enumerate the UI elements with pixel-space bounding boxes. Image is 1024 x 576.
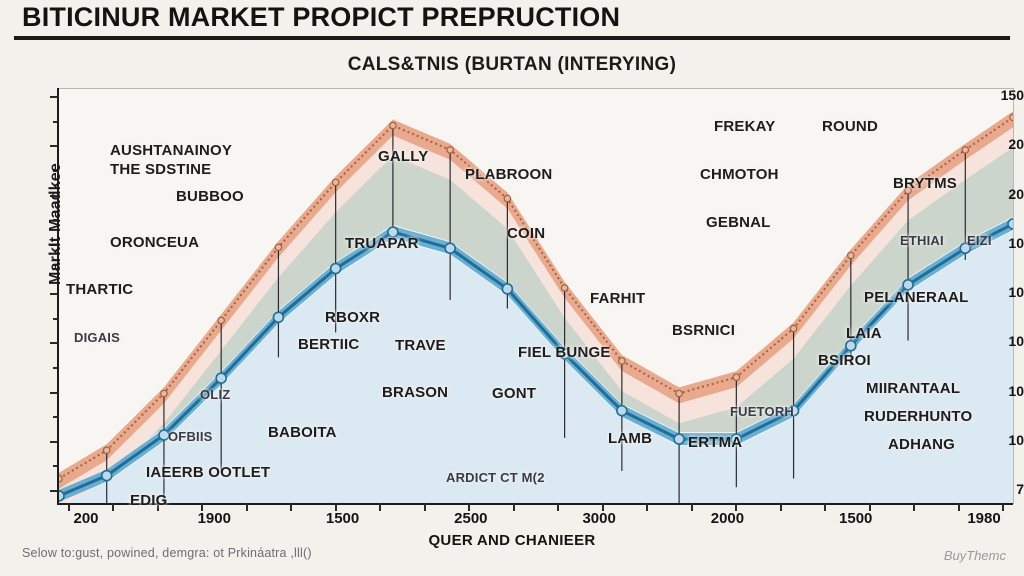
lower-series-marker (273, 312, 283, 322)
chart-annotation: ERTMA (688, 434, 742, 451)
x-minor-tick (646, 503, 648, 511)
x-minor-tick (379, 503, 381, 511)
x-minor-tick (869, 503, 871, 511)
chart-annotation: BERTIIC (298, 336, 359, 353)
lower-series-marker (216, 373, 226, 383)
upper-series-marker (676, 390, 682, 396)
x-minor-tick (513, 503, 515, 511)
chart-annotation: IAEERB OOTLET (146, 464, 270, 481)
chart-annotation: THARTIC (66, 281, 133, 298)
y-minor-tick (53, 441, 58, 443)
footnote: Selow to:gust, powined, demgra: ot Prkin… (22, 546, 312, 560)
chart-annotation: FUETORH (730, 404, 794, 419)
upper-series-marker (848, 252, 854, 258)
title-divider (14, 36, 1010, 40)
y-tick-label: 20 (972, 186, 1024, 202)
chart-annotation: BRASON (382, 384, 448, 401)
y-tick-label: 150 (972, 87, 1024, 103)
chart-annotation: TRAVE (395, 337, 446, 354)
y-minor-tick (53, 367, 58, 369)
x-minor-tick (691, 503, 693, 511)
x-tick-label: 200 (73, 510, 98, 527)
y-minor-tick (53, 96, 58, 98)
upper-series-marker (218, 317, 224, 323)
x-minor-tick (958, 503, 960, 511)
chart-annotation: OLIZ (200, 387, 230, 402)
lower-series-marker (331, 264, 341, 274)
y-tick-label: 10 (972, 333, 1024, 349)
y-tick-label: 20 (972, 136, 1024, 152)
y-minor-tick (53, 416, 58, 418)
chart-annotation: TRUAPAR (345, 235, 419, 252)
x-minor-tick (68, 503, 70, 511)
lower-series-marker (59, 491, 64, 501)
page-title: BITICINUR MARKET PROPICT PREPRUCTION (22, 2, 620, 33)
lower-series-marker (445, 243, 455, 253)
y-minor-tick (53, 392, 58, 394)
upper-series-marker (790, 325, 796, 331)
chart-annotation: PLABROON (465, 166, 552, 183)
upper-series-marker (104, 447, 110, 453)
y-tick-label: 10 (972, 284, 1024, 300)
chart-annotation: BABOITA (268, 424, 337, 441)
chart-annotation: PELANERAAL (864, 289, 969, 306)
x-tick-label: 1500 (839, 510, 872, 527)
chart-annotation: MIIRANTAAL (866, 380, 960, 397)
x-minor-tick (246, 503, 248, 511)
upper-series-marker (733, 374, 739, 380)
chart-annotation: GEBNAL (706, 214, 771, 231)
chart-annotation: BSRNICI (672, 322, 735, 339)
chart-annotation: EIZI (967, 233, 992, 248)
x-minor-tick (780, 503, 782, 511)
chart-annotation: ORONCEUA (110, 234, 199, 251)
x-minor-tick (824, 503, 826, 511)
upper-series-marker (447, 147, 453, 153)
x-tick-label: 3000 (582, 510, 615, 527)
chart-annotation: THE SDSTINE (110, 161, 211, 178)
chart-annotation: RBOXR (325, 309, 380, 326)
chart-annotation: ETHIAI (900, 233, 944, 248)
watermark: BuyThemc (944, 548, 1006, 563)
x-minor-tick (290, 503, 292, 511)
chart-annotation: CHMOTOH (700, 166, 779, 183)
chart-annotation: OFBIIS (168, 429, 213, 444)
y-axis-title: Marklt Maadkee (47, 124, 65, 324)
lower-series-marker (674, 434, 684, 444)
x-minor-tick (913, 503, 915, 511)
lower-series-marker (102, 471, 112, 481)
chart-annotation: FARHIT (590, 290, 645, 307)
upper-series-marker (619, 358, 625, 364)
chart-annotation: ROUND (822, 118, 878, 135)
x-tick-label: 2000 (711, 510, 744, 527)
chart-annotation: GALLY (378, 148, 428, 165)
chart-annotation: AUSHTANAINOY (110, 142, 232, 159)
upper-series-marker (561, 285, 567, 291)
chart-annotation: BRYTMS (893, 175, 957, 192)
x-minor-tick (735, 503, 737, 511)
chart-subtitle: CALS&TNIS (BURTAN (INTERYING) (0, 54, 1024, 76)
chart-annotation: BSIROI (818, 352, 871, 369)
x-tick-label: 1900 (198, 510, 231, 527)
chart-annotation: ADHANG (888, 436, 955, 453)
upper-series-marker (390, 122, 396, 128)
upper-series-marker (332, 179, 338, 185)
chart-annotation: DIGAIS (74, 330, 120, 345)
x-tick-label: 2500 (454, 510, 487, 527)
y-tick-label: 10 (972, 383, 1024, 399)
lower-series-marker (502, 284, 512, 294)
x-tick-label: 1500 (326, 510, 359, 527)
upper-series-marker (161, 390, 167, 396)
lower-series-marker (1008, 219, 1013, 229)
x-minor-tick (1002, 503, 1004, 511)
chart-annotation: EDIG (130, 492, 167, 509)
chart-annotation: COIN (507, 225, 545, 242)
x-minor-tick (335, 503, 337, 511)
chart-annotation: RUDERHUNTO (864, 408, 972, 425)
y-minor-tick (53, 342, 58, 344)
y-minor-tick (53, 465, 58, 467)
x-minor-tick (602, 503, 604, 511)
y-minor-tick (53, 490, 58, 492)
chart-page: BITICINUR MARKET PROPICT PREPRUCTION CAL… (0, 0, 1024, 576)
x-minor-tick (112, 503, 114, 511)
chart-annotation: BUBBOO (176, 188, 244, 205)
chart-annotation: GONT (492, 385, 536, 402)
upper-series-marker (962, 147, 968, 153)
x-minor-tick (424, 503, 426, 511)
x-minor-tick (557, 503, 559, 511)
upper-series-marker (504, 195, 510, 201)
chart-annotation: FREKAY (714, 118, 776, 135)
upper-series-marker (275, 244, 281, 250)
lower-series-marker (617, 406, 627, 416)
x-tick-label: 1980 (967, 510, 1000, 527)
upper-series-marker (59, 476, 62, 482)
chart-annotation: LAIA (846, 325, 882, 342)
chart-annotation: ARDICT CT M(2 (446, 470, 545, 485)
chart-annotation: FIEL BUNGE (518, 344, 611, 361)
upper-series-marker (1010, 114, 1013, 120)
x-minor-tick (468, 503, 470, 511)
y-minor-tick (53, 121, 58, 123)
y-tick-label: 7 (972, 481, 1024, 497)
chart-annotation: LAMB (608, 430, 652, 447)
x-minor-tick (201, 503, 203, 511)
y-tick-label: 10 (972, 432, 1024, 448)
lower-series-marker (846, 341, 856, 351)
